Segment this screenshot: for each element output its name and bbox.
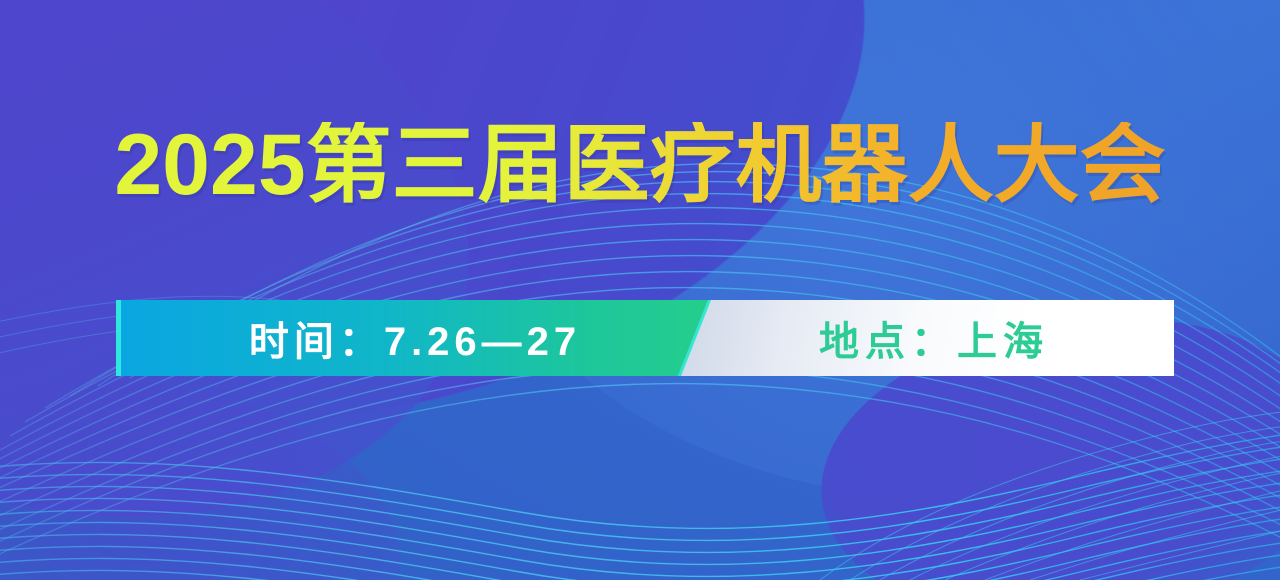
event-banner: 2025第三届医疗机器人大会 时间：7.26—27 地点：上海 <box>0 0 1280 580</box>
event-info-bar: 时间：7.26—27 地点：上海 <box>116 300 1174 376</box>
event-place-section: 地点：上海 <box>678 300 1174 376</box>
wave-line-pattern <box>0 0 1280 580</box>
event-place-label: 地点：上海 <box>819 309 1049 367</box>
event-time-section: 时间：7.26—27 <box>116 300 708 376</box>
banner-title-container: 2025第三届医疗机器人大会 <box>0 122 1280 208</box>
banner-title: 2025第三届医疗机器人大会 <box>114 122 1165 208</box>
event-time-label: 时间：7.26—27 <box>249 309 581 367</box>
